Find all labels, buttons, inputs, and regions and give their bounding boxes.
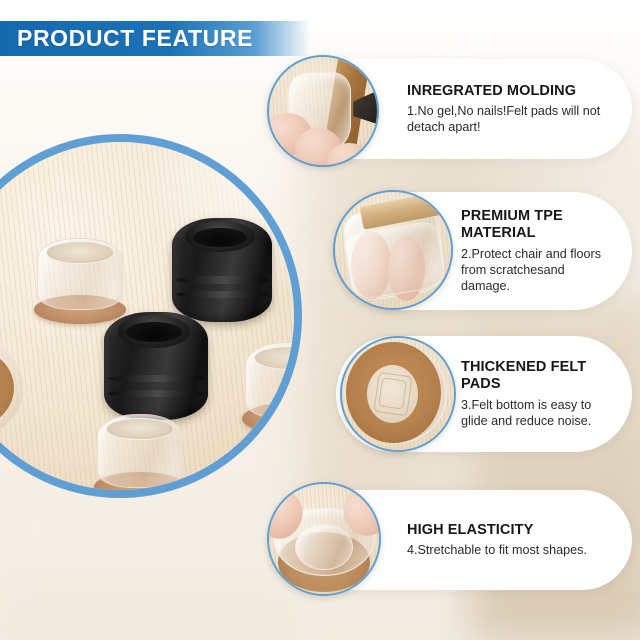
thumb-thickened-felt-pads xyxy=(340,336,456,452)
feature-card-4-text: HIGH ELASTICITY 4.Stretchable to fit mos… xyxy=(407,490,616,590)
header-banner: PRODUCT FEATURE xyxy=(0,21,310,56)
cap-rim xyxy=(46,241,114,263)
thumb-premium-tpe-material xyxy=(333,190,453,310)
hero-clear-cap-2 xyxy=(242,342,302,434)
clear-cap-dome xyxy=(295,524,352,570)
product-feature-infographic: PRODUCT FEATURE xyxy=(0,0,640,640)
background-blur-floor xyxy=(0,520,300,640)
page-title: PRODUCT FEATURE xyxy=(0,25,253,52)
thumb-integrated-molding xyxy=(267,55,379,167)
cap-opening xyxy=(118,315,191,347)
finger xyxy=(327,143,370,167)
cap-ridge xyxy=(108,375,204,383)
product-hero-photo xyxy=(0,134,302,498)
cap-rim xyxy=(106,418,174,441)
hero-clear-cap-3 xyxy=(94,414,186,498)
cap-ridge xyxy=(176,276,268,283)
hero-black-cap-2 xyxy=(104,312,208,420)
cap-ridge xyxy=(176,291,268,298)
feature-card-1-body: 1.No gel,No nails!Felt pads will not det… xyxy=(407,103,616,135)
feature-card-4-body: 4.Stretchable to fit most shapes. xyxy=(407,542,616,558)
feature-card-3-text: THICKENED FELT PADS 3.Felt bottom is eas… xyxy=(461,336,616,452)
feature-card-2-body: 2.Protect chair and floors from scratche… xyxy=(461,246,616,294)
feature-card-1-text: INREGRATED MOLDING 1.No gel,No nails!Fel… xyxy=(407,59,616,159)
hexagon-pattern xyxy=(378,378,406,410)
feature-card-4-title: HIGH ELASTICITY xyxy=(407,522,616,539)
feature-card-2-title: PREMIUM TPE MATERIAL xyxy=(461,208,616,243)
feature-card-3-body: 3.Felt bottom is easy to glide and reduc… xyxy=(461,397,616,429)
hero-black-cap-1 xyxy=(172,218,272,322)
feature-card-3-title: THICKENED FELT PADS xyxy=(461,359,616,394)
thumb-high-elasticity xyxy=(267,482,381,596)
feature-card-2-text: PREMIUM TPE MATERIAL 2.Protect chair and… xyxy=(461,192,616,310)
feature-card-1-title: INREGRATED MOLDING xyxy=(407,83,616,100)
hero-felt-top-cap xyxy=(0,338,24,438)
